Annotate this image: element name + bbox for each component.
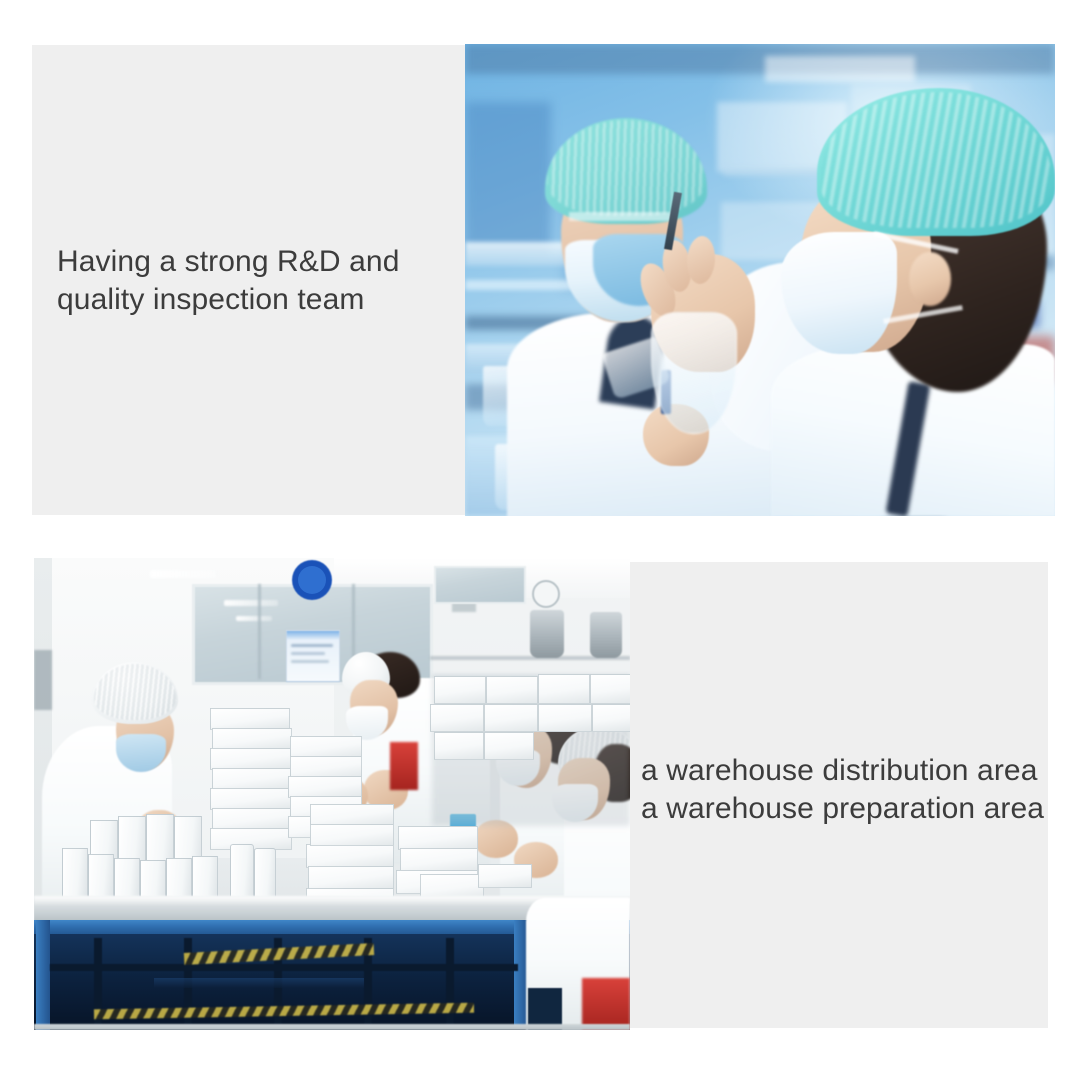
warehouse-packing-photo — [34, 558, 630, 1030]
rnd-caption-line-2: quality inspection team — [57, 281, 399, 319]
rnd-caption: Having a strong R&D and quality inspecti… — [57, 243, 399, 319]
poster-page: Having a strong R&D and quality inspecti… — [0, 0, 1080, 1080]
warehouse-caption: a warehouse distribution area a warehous… — [641, 752, 1044, 828]
rnd-lab-photo — [465, 44, 1055, 516]
warehouse-caption-line-1: a warehouse distribution area — [641, 752, 1044, 790]
warehouse-caption-line-2: a warehouse preparation area — [641, 790, 1044, 828]
rnd-caption-line-1: Having a strong R&D and — [57, 243, 399, 281]
